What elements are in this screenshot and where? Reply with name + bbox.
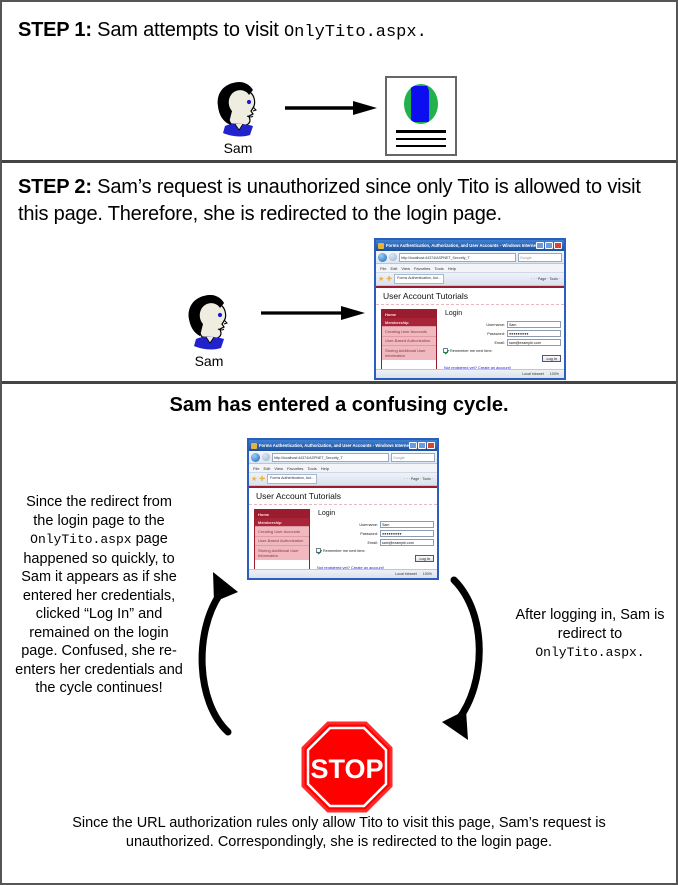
web-page-globe-icon (385, 76, 457, 156)
browser-tabbar[interactable]: ★ ✚ Forms Authentication, Aut... · · · P… (376, 273, 564, 286)
step-2-heading: STEP 2: Sam’s request is unauthorized si… (18, 174, 666, 228)
forward-icon[interactable] (389, 253, 397, 261)
remember-me-checkbox[interactable]: Remember me next time. (443, 348, 561, 353)
menu-edit[interactable]: Edit (263, 466, 270, 471)
security-zone-label: Local intranet (395, 572, 423, 576)
email-input[interactable]: sam@example.com (507, 339, 561, 346)
email-label: Email: (494, 341, 505, 345)
sam-label: Sam (209, 141, 267, 156)
sam-actor-step1: Sam (209, 78, 267, 156)
site-title: User Account Tutorials (249, 488, 437, 505)
back-icon[interactable] (251, 453, 260, 462)
toolbar-commands[interactable]: · · · Page · Tools · (531, 277, 562, 281)
page-text-lines (396, 130, 446, 152)
cycle-right-text-part1: After logging in, Sam is redirect to (515, 607, 664, 642)
browser-statusbar: Local intranet 100% (376, 369, 564, 378)
sam-label: Sam (180, 354, 238, 369)
browser-viewport: User Account Tutorials Home Membership C… (249, 486, 437, 569)
cycle-left-text-part1: Since the redirect from the login page t… (26, 494, 172, 529)
browser-title-text: Forms Authentication, Authorization, and… (386, 243, 536, 248)
diagram-canvas: STEP 1: Sam attempts to visit OnlyTito.a… (0, 0, 678, 885)
favorites-star-icon[interactable]: ★ (251, 476, 257, 483)
add-favorite-icon[interactable]: ✚ (386, 276, 392, 283)
log-in-button[interactable]: Log In (542, 355, 561, 362)
remember-me-checkbox[interactable]: Remember me next time. (316, 548, 434, 553)
browser-menubar[interactable]: File Edit View Favorites Tools Help (249, 464, 437, 473)
menu-tools[interactable]: Tools (434, 266, 443, 271)
browser-titlebar: Forms Authentication, Authorization, and… (376, 240, 564, 251)
section-divider-1 (2, 160, 676, 163)
browser-navbar[interactable]: http://localhost:44374/ASPNET_Security_T… (376, 251, 564, 264)
browser-menubar[interactable]: File Edit View Favorites Tools Help (376, 264, 564, 273)
username-input[interactable]: Sam (507, 321, 561, 328)
browser-app-icon (378, 243, 384, 249)
window-controls[interactable] (409, 442, 435, 449)
email-row: Email: sam@example.com (443, 339, 561, 346)
checkbox-icon[interactable] (316, 548, 321, 553)
browser-tab[interactable]: Forms Authentication, Aut... (267, 474, 317, 484)
menu-view[interactable]: View (401, 266, 410, 271)
site-sidebar[interactable]: Home Membership Creating User Accounts U… (254, 509, 310, 569)
search-box[interactable]: Google (518, 253, 562, 262)
password-row: Password: ●●●●●●●●● (443, 330, 561, 337)
cycle-left-text-part2: page happened so quickly, to Sam it appe… (15, 531, 183, 696)
create-account-link[interactable]: Not registered yet? Create an account! (316, 565, 434, 569)
cycle-right-text-part2: . (637, 645, 645, 660)
menu-file[interactable]: File (380, 266, 386, 271)
log-in-button[interactable]: Log In (415, 555, 434, 562)
password-input[interactable]: ●●●●●●●●● (507, 330, 561, 337)
step-1-mono-filename: OnlyTito.aspx (284, 23, 417, 42)
email-row: Email: sam@example.com (316, 539, 434, 546)
site-title: User Account Tutorials (376, 288, 564, 305)
login-panel: Login Username: Sam Password: ●●●●●●●●● … (316, 509, 434, 569)
step-1-label: STEP 1: (18, 19, 92, 41)
sidebar-item-storing-additional-user-information[interactable]: Storing Additional User Information (255, 545, 309, 560)
cycle-left-caption: Since the redirect from the login page t… (14, 493, 184, 698)
cycle-bottom-caption: Since the URL authorization rules only a… (52, 814, 626, 852)
arrow-step1 (285, 100, 377, 116)
username-label: Username: (486, 323, 505, 327)
close-button[interactable] (554, 242, 562, 249)
stop-sign-icon: STOP (301, 721, 393, 813)
browser-tabbar[interactable]: ★ ✚ Forms Authentication, Aut... · · · P… (249, 473, 437, 486)
menu-favorites[interactable]: Favorites (414, 266, 430, 271)
sidebar-item-creating-user-accounts[interactable]: Creating User Accounts (382, 326, 436, 336)
stop-sign-label: STOP (310, 754, 383, 784)
menu-help[interactable]: Help (321, 466, 329, 471)
login-panel: Login Username: Sam Password: ●●●●●●●●● … (443, 309, 561, 369)
browser-statusbar: Local intranet 100% (249, 569, 437, 578)
sidebar-item-storing-additional-user-information[interactable]: Storing Additional User Information (382, 345, 436, 360)
address-bar[interactable]: http://localhost:44374/ASPNET_Security_T (399, 253, 516, 262)
checkbox-icon[interactable] (443, 348, 448, 353)
maximize-button[interactable] (545, 242, 553, 249)
browser-window-cycle[interactable]: Forms Authentication, Authorization, and… (247, 438, 439, 580)
username-input[interactable]: Sam (380, 521, 434, 528)
sidebar-item-user-based-authorization[interactable]: User-Based Authorization (255, 536, 309, 546)
sidebar-item-home[interactable]: Home (255, 510, 309, 518)
globe-icon (404, 84, 438, 124)
menu-tools[interactable]: Tools (307, 466, 316, 471)
remember-me-label: Remember me next time. (323, 549, 366, 553)
favorites-star-icon[interactable]: ★ (378, 276, 384, 283)
sam-actor-step2: Sam (180, 291, 238, 369)
security-zone-label: Local intranet (522, 372, 550, 376)
minimize-button[interactable] (409, 442, 417, 449)
sidebar-item-membership[interactable]: Membership (255, 518, 309, 526)
toolbar-commands[interactable]: · · · Page · Tools · (404, 477, 435, 481)
menu-edit[interactable]: Edit (390, 266, 397, 271)
back-icon[interactable] (378, 253, 387, 262)
menu-file[interactable]: File (253, 466, 259, 471)
search-box[interactable]: Google (391, 453, 435, 462)
arrow-step2 (261, 305, 365, 321)
close-button[interactable] (427, 442, 435, 449)
login-heading: Login (318, 510, 434, 517)
step-2-label: STEP 2: (18, 176, 92, 198)
forward-icon[interactable] (262, 453, 270, 461)
remember-me-label: Remember me next time. (450, 349, 493, 353)
username-row: Username: Sam (443, 321, 561, 328)
step-2-text: Sam’s request is unauthorized since only… (18, 176, 641, 225)
login-heading: Login (445, 310, 561, 317)
browser-titlebar: Forms Authentication, Authorization, and… (249, 440, 437, 451)
password-label: Password: (360, 532, 378, 536)
cycle-right-caption: After logging in, Sam is redirect to Onl… (507, 606, 673, 663)
sam-head-icon (209, 78, 267, 140)
zoom-level-label[interactable]: 100% (423, 572, 434, 576)
window-controls[interactable] (536, 242, 562, 249)
sidebar-item-home[interactable]: Home (382, 310, 436, 318)
browser-navbar[interactable]: http://localhost:44374/ASPNET_Security_T… (249, 451, 437, 464)
add-favorite-icon[interactable]: ✚ (259, 476, 265, 483)
password-label: Password: (487, 332, 505, 336)
cycle-left-mono-filename: OnlyTito.aspx (30, 532, 131, 547)
section-divider-2 (2, 381, 676, 384)
browser-window-step2[interactable]: Forms Authentication, Authorization, and… (374, 238, 566, 380)
maximize-button[interactable] (418, 442, 426, 449)
menu-favorites[interactable]: Favorites (287, 466, 303, 471)
username-row: Username: Sam (316, 521, 434, 528)
address-bar[interactable]: http://localhost:44374/ASPNET_Security_T (272, 453, 389, 462)
sidebar-item-membership[interactable]: Membership (382, 318, 436, 326)
cycle-title: Sam has entered a confusing cycle. (2, 394, 676, 417)
menu-help[interactable]: Help (448, 266, 456, 271)
email-input[interactable]: sam@example.com (380, 539, 434, 546)
username-label: Username: (359, 523, 378, 527)
browser-tab[interactable]: Forms Authentication, Aut... (394, 274, 444, 284)
sidebar-item-user-based-authorization[interactable]: User-Based Authorization (382, 336, 436, 346)
password-input[interactable]: ●●●●●●●●● (380, 530, 434, 537)
browser-viewport: User Account Tutorials Home Membership C… (376, 286, 564, 369)
email-label: Email: (367, 541, 378, 545)
menu-view[interactable]: View (274, 466, 283, 471)
step-1-heading: STEP 1: Sam attempts to visit OnlyTito.a… (18, 17, 668, 46)
password-row: Password: ●●●●●●●●● (316, 530, 434, 537)
sidebar-item-creating-user-accounts[interactable]: Creating User Accounts (255, 526, 309, 536)
browser-app-icon (251, 443, 257, 449)
cycle-right-mono-filename: OnlyTito.aspx (535, 645, 636, 660)
zoom-level-label[interactable]: 100% (550, 372, 561, 376)
site-sidebar[interactable]: Home Membership Creating User Accounts U… (381, 309, 437, 369)
sam-head-icon (180, 291, 238, 353)
step-1-text-before: Sam attempts to visit (92, 19, 284, 41)
minimize-button[interactable] (536, 242, 544, 249)
step-1-text-after: . (417, 23, 427, 42)
create-account-link[interactable]: Not registered yet? Create an account! (443, 365, 561, 369)
browser-title-text: Forms Authentication, Authorization, and… (259, 443, 409, 448)
